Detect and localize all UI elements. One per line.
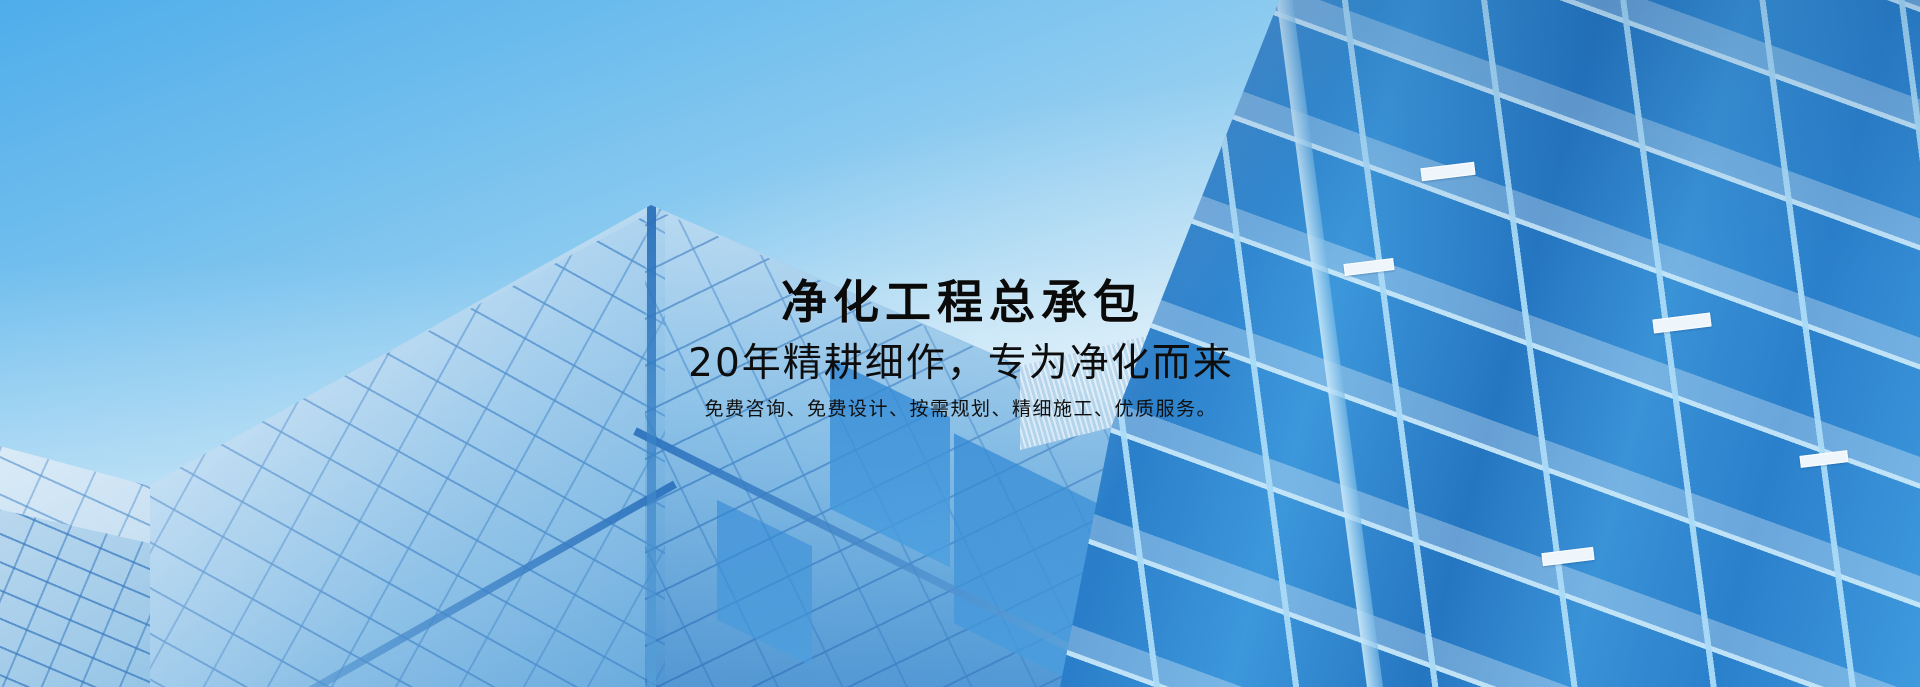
banner-hero: 净化工程总承包 20年精耕细作，专为净化而来 免费咨询、免费设计、按需规划、精细…: [0, 0, 1920, 687]
